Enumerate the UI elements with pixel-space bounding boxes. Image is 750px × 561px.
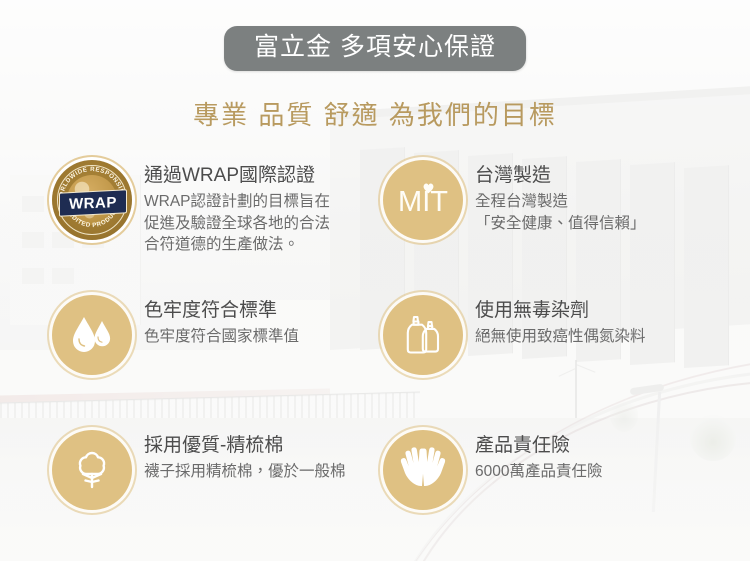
features-row: WORLDWIDE RESPONSIBLE ACCREDITED PRODUCT… [0,160,750,295]
feature-description: 6000萬產品責任險 [475,461,602,482]
heart-icon [422,182,435,194]
feature-color-fastness: 色牢度符合標準 色牢度符合國家標準值 [0,295,375,430]
feature-description-line: 色牢度符合國家標準值 [144,326,299,347]
feature-heading: 色牢度符合標準 [144,299,299,323]
feature-heading: 使用無毒染劑 [475,299,646,323]
mit-badge-icon: MIT [383,160,463,240]
feature-description-line: 6000萬產品責任險 [475,461,602,482]
feature-description: WRAP認證計劃的目標旨在 促進及驗證全球各地的合法 合符道德的生產做法。 [144,191,330,255]
content-layer: 富立金 多項安心保證 專業 品質 舒適 為我們的目標 [0,0,750,561]
feature-text-block: 採用優質-精梳棉 襪子採用精梳棉，優於一般棉 [144,430,346,483]
mit-label: MIT [383,160,463,240]
wrap-wordmark-text: WRAP [69,195,117,212]
feature-text-block: 使用無毒染劑 絕無使用致癌性偶氮染料 [475,295,646,348]
feature-description-line: 「安全健康、值得信賴」 [475,213,646,234]
feature-text-block: 通過WRAP國際認證 WRAP認證計劃的目標旨在 促進及驗證全球各地的合法 合符… [144,160,330,255]
feature-made-in-taiwan: MIT 台灣製造 全程台灣製造 「安全健康、值得信賴」 [375,160,750,295]
page-subtitle: 專業 品質 舒適 為我們的目標 [193,102,557,128]
features-row: 採用優質-精梳棉 襪子採用精梳棉，優於一般棉 [0,430,750,540]
feature-text-block: 產品責任險 6000萬產品責任險 [475,430,602,483]
feature-description: 襪子採用精梳棉，優於一般棉 [144,461,346,482]
feature-combed-cotton: 採用優質-精梳棉 襪子採用精梳棉，優於一般棉 [0,430,375,540]
feature-description-line: 促進及驗證全球各地的合法 [144,213,330,234]
features-row: 色牢度符合標準 色牢度符合國家標準值 [0,295,750,430]
feature-description-line: 絕無使用致癌性偶氮染料 [475,326,646,347]
feature-heading: 台灣製造 [475,164,646,188]
feature-description: 全程台灣製造 「安全健康、值得信賴」 [475,191,646,234]
wrap-wordmark: WRAP [59,189,127,217]
page-title-banner: 富立金 多項安心保證 [224,26,526,71]
features-grid: WORLDWIDE RESPONSIBLE ACCREDITED PRODUCT… [0,160,750,540]
open-hands-icon [383,430,463,510]
feature-heading: 採用優質-精梳棉 [144,434,346,458]
feature-text-block: 色牢度符合標準 色牢度符合國家標準值 [144,295,299,348]
feature-heading: 通過WRAP國際認證 [144,164,330,188]
feature-wrap-certification: WORLDWIDE RESPONSIBLE ACCREDITED PRODUCT… [0,160,375,295]
feature-description: 絕無使用致癌性偶氮染料 [475,326,646,347]
feature-description-line: WRAP認證計劃的目標旨在 [144,191,330,212]
feature-description-line: 合符道德的生產做法。 [144,234,330,255]
wrap-seal-icon: WORLDWIDE RESPONSIBLE ACCREDITED PRODUCT… [52,160,132,240]
feature-product-liability: 產品責任險 6000萬產品責任險 [375,430,750,540]
water-droplets-icon [52,295,132,375]
feature-description-line: 全程台灣製造 [475,191,646,212]
feature-heading: 產品責任險 [475,434,602,458]
feature-description: 色牢度符合國家標準值 [144,326,299,347]
feature-text-block: 台灣製造 全程台灣製造 「安全健康、值得信賴」 [475,160,646,234]
dye-bottles-icon [383,295,463,375]
feature-non-toxic-dye: 使用無毒染劑 絕無使用致癌性偶氮染料 [375,295,750,430]
feature-description-line: 襪子採用精梳棉，優於一般棉 [144,461,346,482]
cotton-flower-icon [52,430,132,510]
promo-banner-page: 富立金 多項安心保證 專業 品質 舒適 為我們的目標 [0,0,750,561]
